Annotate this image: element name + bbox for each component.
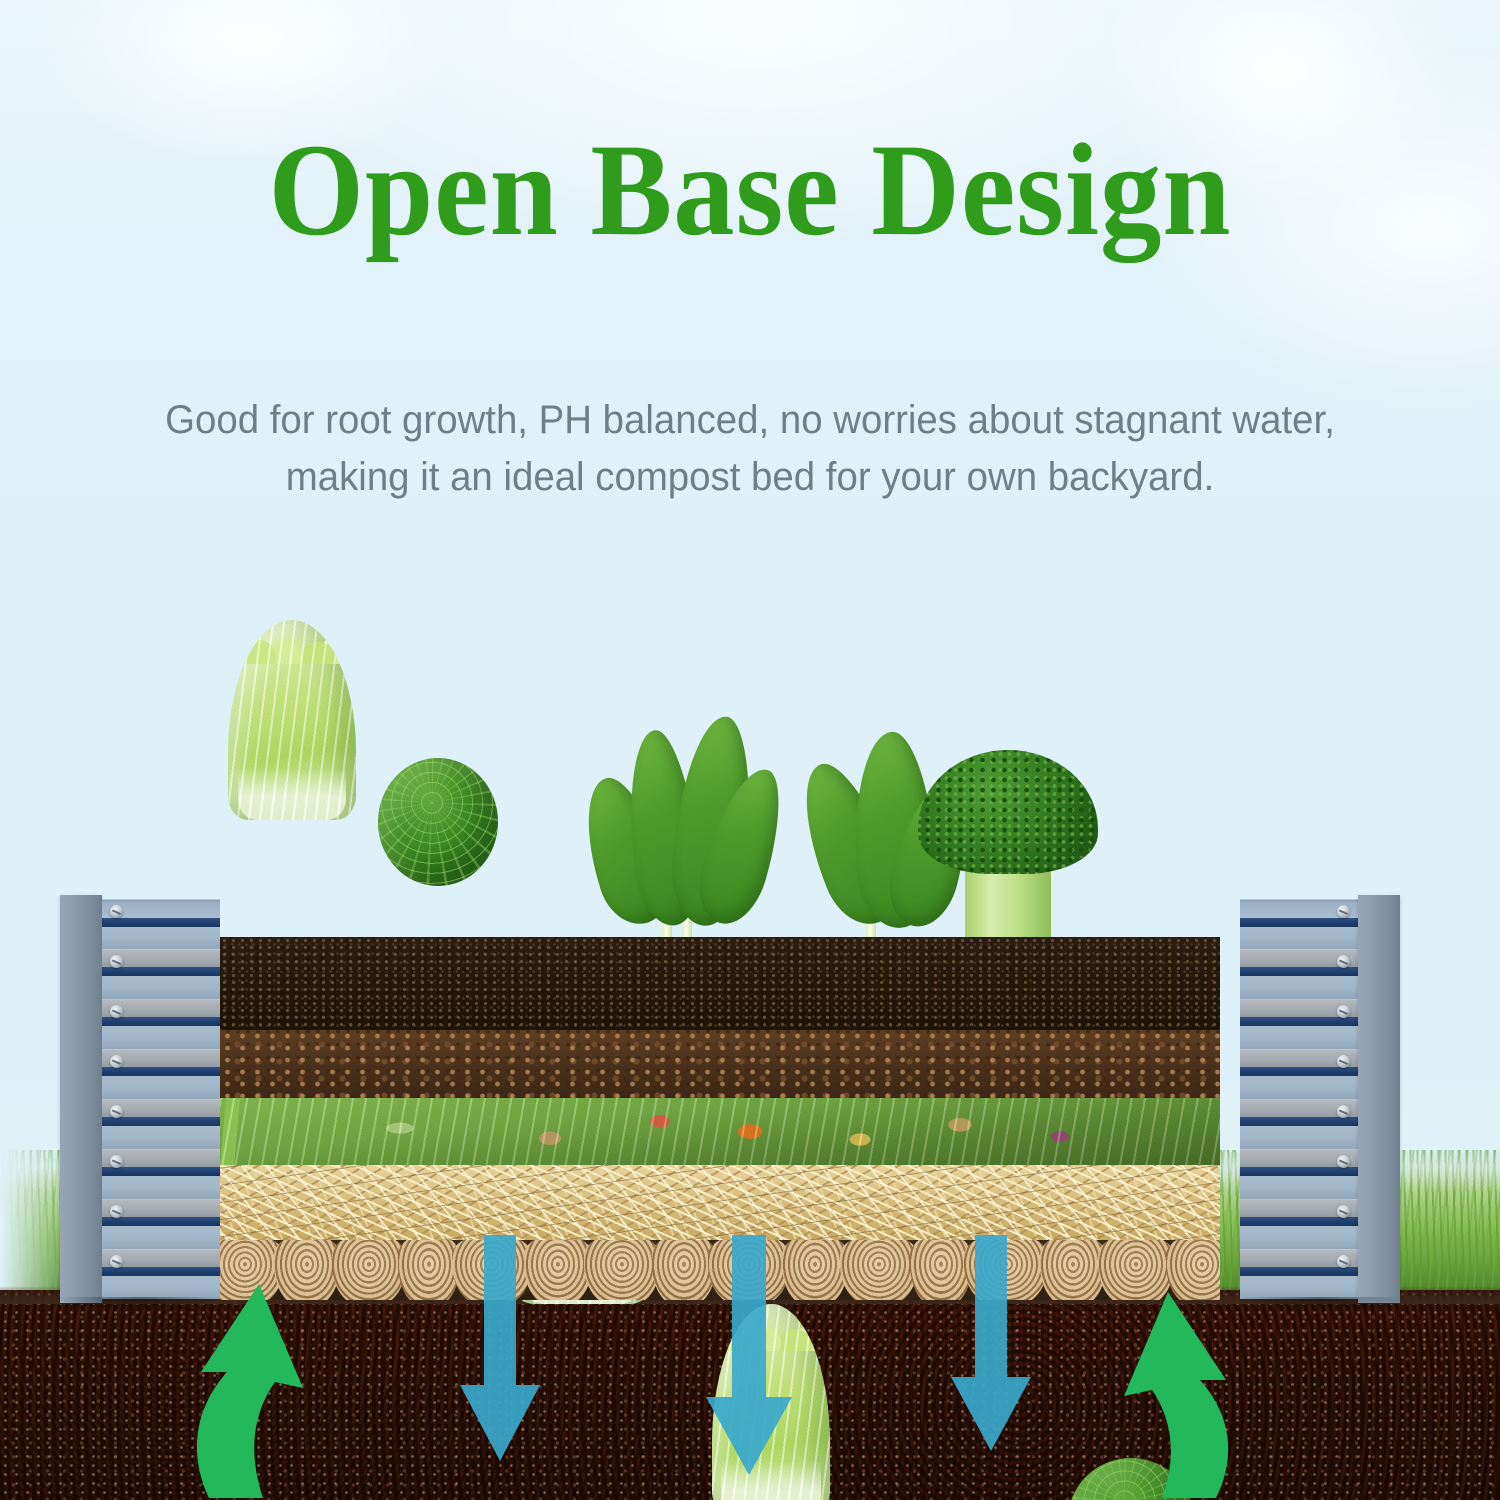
- post-screw: [110, 1205, 123, 1218]
- post-slat-panel-left: [102, 899, 220, 1299]
- slat-band: [1240, 1017, 1358, 1026]
- post-screw: [1337, 1255, 1350, 1268]
- galvanized-corner-post-left: [60, 895, 220, 1303]
- page-subtitle: Good for root growth, PH balanced, no wo…: [78, 392, 1422, 506]
- slat-band: [102, 1017, 220, 1026]
- post-shadow: [1240, 1297, 1400, 1309]
- drainage-arrow-down-2: [700, 1235, 796, 1495]
- post-screw: [110, 955, 123, 968]
- post-screw: [1337, 1055, 1350, 1068]
- post-shadow: [60, 1297, 220, 1309]
- post-screw: [110, 1005, 123, 1018]
- slat-band: [102, 1117, 220, 1126]
- post-flange-right: [1358, 895, 1400, 1303]
- post-screw: [110, 1105, 123, 1118]
- slat-band: [102, 918, 220, 927]
- subtitle-line-2: making it an ideal compost bed for your …: [286, 455, 1214, 499]
- drainage-arrow-down-3: [945, 1235, 1035, 1475]
- airflow-arrow-up-right: [1110, 1270, 1250, 1500]
- post-screw: [1337, 905, 1350, 918]
- post-flange-left: [60, 895, 102, 1303]
- log: [332, 1240, 406, 1300]
- subtitle-line-1: Good for root growth, PH balanced, no wo…: [165, 398, 1335, 442]
- log: [584, 1240, 660, 1300]
- broccoli-head: [918, 750, 1098, 874]
- layer-straw: [220, 1165, 1220, 1240]
- slat-band: [102, 1067, 220, 1076]
- slat-band: [102, 1167, 220, 1176]
- page-title: Open Base Design: [53, 124, 1448, 256]
- plant-swiss-chard: [586, 650, 776, 950]
- post-screw: [110, 905, 123, 918]
- post-slat-panel-right: [1240, 899, 1358, 1299]
- log: [1040, 1240, 1106, 1300]
- slat-band: [102, 1217, 220, 1226]
- slat-band: [102, 967, 220, 976]
- post-screw: [1337, 1205, 1350, 1218]
- layer-compost-bark: [220, 1030, 1220, 1098]
- log: [398, 1240, 460, 1300]
- slat-band: [1240, 1267, 1358, 1276]
- galvanized-corner-post-right: [1240, 895, 1400, 1303]
- chard-cluster: [586, 650, 776, 950]
- post-screw: [110, 1155, 123, 1168]
- post-screw: [1337, 955, 1350, 968]
- slat-band: [1240, 1067, 1358, 1076]
- slat-band: [102, 1267, 220, 1276]
- slat-band: [1240, 1117, 1358, 1126]
- slat-band: [1240, 967, 1358, 976]
- post-screw: [110, 1255, 123, 1268]
- drainage-arrow-down-1: [454, 1235, 544, 1485]
- infographic-canvas: Open Base Design Good for root growth, P…: [0, 0, 1500, 1500]
- log: [840, 1240, 918, 1300]
- plant-napa-cabbage: [228, 620, 356, 820]
- post-screw: [1337, 1105, 1350, 1118]
- slat-band: [1240, 1167, 1358, 1176]
- layer-kitchen-scraps: [220, 1098, 1220, 1165]
- slat-band: [1240, 918, 1358, 927]
- layer-topsoil: [220, 937, 1220, 1030]
- plant-savoy-cabbage: [378, 758, 498, 886]
- napa-crown: [233, 620, 351, 664]
- post-screw: [110, 1055, 123, 1068]
- post-screw: [1337, 1155, 1350, 1168]
- slat-band: [1240, 1217, 1358, 1226]
- plant-broccoli: [918, 750, 1098, 950]
- post-screw: [1337, 1005, 1350, 1018]
